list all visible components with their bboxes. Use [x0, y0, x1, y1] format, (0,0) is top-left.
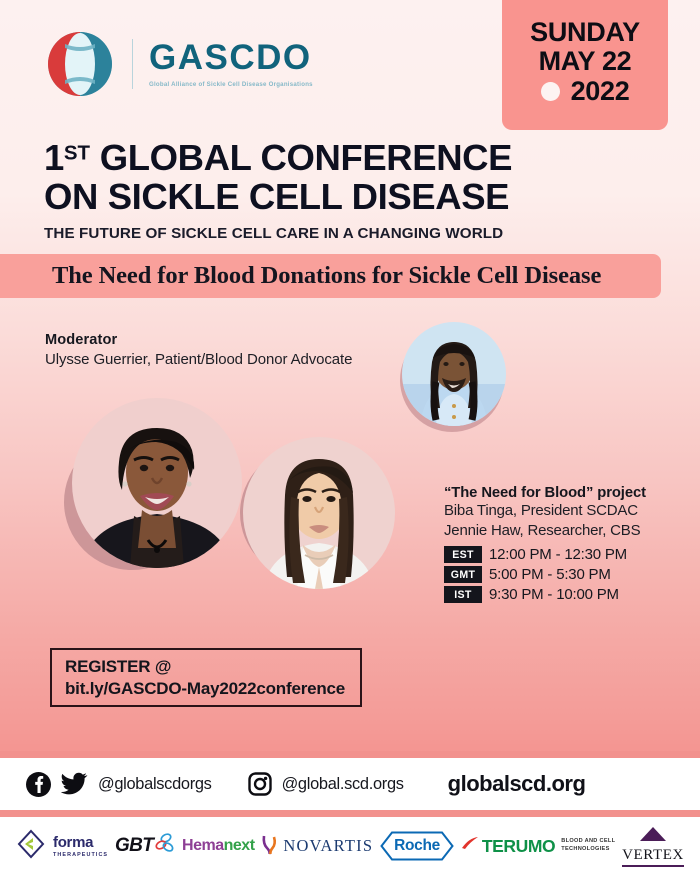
terumo-swoosh-icon: [461, 836, 479, 857]
gascdo-logo: GASCDO Global Alliance of Sickle Cell Di…: [46, 30, 313, 98]
sponsor-strip: forma THERAPEUTICS GBT Hemanext: [0, 817, 700, 875]
facebook-icon[interactable]: [26, 772, 51, 797]
register-box[interactable]: REGISTER @ bit.ly/GASCDO-May2022conferen…: [50, 648, 362, 707]
poster-header: GASCDO Global Alliance of Sickle Cell Di…: [0, 0, 700, 135]
sponsor-name: forma: [53, 835, 108, 850]
sponsor-tagline: THERAPEUTICS: [53, 852, 108, 858]
speaker-photo-biba-tinga: [72, 398, 242, 568]
white-circle-bullet-icon: [541, 82, 560, 101]
sponsor-name: Roche: [394, 837, 440, 855]
conference-poster: GASCDO Global Alliance of Sickle Cell Di…: [0, 0, 700, 875]
date-badge: SUNDAY MAY 22 2022: [502, 0, 668, 130]
vertex-triangle-icon: [639, 826, 667, 847]
social-bar: @globalscdorgs @global.scd.orgs globalsc…: [0, 758, 700, 810]
register-label: REGISTER @: [65, 656, 360, 677]
logo-divider: [132, 39, 133, 89]
sponsor-tagline-line2: TECHNOLOGIES: [561, 846, 615, 854]
title-line2: ON SICKLE CELL DISEASE: [44, 176, 509, 217]
sponsor-roche: Roche: [380, 831, 454, 861]
social-handle-main[interactable]: @globalscdorgs: [98, 775, 212, 794]
timezone-row: IST 9:30 PM - 10:00 PM: [444, 586, 646, 603]
date-year: 2022: [571, 77, 630, 106]
moderator-role-label: Moderator: [45, 332, 352, 348]
title-ordinal-suffix: ST: [64, 141, 90, 164]
logo-tagline: Global Alliance of Sickle Cell Disease O…: [149, 81, 313, 88]
speaker-name: Biba Tinga, President SCDAC: [444, 501, 646, 521]
speakers-block: “The Need for Blood” project Biba Tinga,…: [444, 485, 646, 606]
title-line1-rest: GLOBAL CONFERENCE: [90, 137, 512, 178]
date-weekday: SUNDAY: [530, 18, 640, 47]
sponsor-name-part-b: next: [224, 837, 255, 854]
instagram-icon[interactable]: [248, 772, 272, 796]
sponsor-name: VERTEX: [622, 847, 684, 867]
sponsor-novartis: NOVARTIS: [261, 833, 373, 860]
sponsor-terumo: TERUMO BLOOD AND CELL TECHNOLOGIES: [461, 836, 615, 857]
novartis-flame-icon: [261, 833, 278, 860]
timezone-time: 12:00 PM - 12:30 PM: [489, 546, 627, 563]
timezone-time: 9:30 PM - 10:00 PM: [489, 586, 619, 603]
timezone-time: 5:00 PM - 5:30 PM: [489, 566, 611, 583]
timezone-badge: IST: [444, 586, 482, 603]
social-rule-top: [0, 751, 700, 758]
timezone-row: EST 12:00 PM - 12:30 PM: [444, 546, 646, 563]
page-title: 1ST GLOBAL CONFERENCE ON SICKLE CELL DIS…: [44, 138, 512, 217]
speaker-photo-jennie-haw: [243, 437, 395, 589]
title-block: 1ST GLOBAL CONFERENCE ON SICKLE CELL DIS…: [44, 138, 512, 242]
speaker-name: Jennie Haw, Researcher, CBS: [444, 521, 646, 541]
timezone-badge: GMT: [444, 566, 482, 583]
sponsor-forma-therapeutics: forma THERAPEUTICS: [16, 829, 108, 864]
logo-wordmark: GASCDO: [149, 40, 313, 75]
sponsor-name-part-a: Hema: [182, 837, 224, 854]
social-handle-instagram[interactable]: @global.scd.orgs: [282, 775, 404, 794]
sponsor-name: NOVARTIS: [283, 836, 373, 856]
register-link[interactable]: bit.ly/GASCDO-May2022conference: [65, 678, 360, 699]
moderator-block: Moderator Ulysse Guerrier, Patient/Blood…: [45, 332, 352, 368]
sponsor-gbt: GBT: [115, 833, 175, 860]
date-month-day: MAY 22: [539, 47, 632, 76]
website-url[interactable]: globalscd.org: [448, 771, 586, 797]
moderator-photo: [402, 322, 506, 426]
session-title-banner: The Need for Blood Donations for Sickle …: [0, 254, 661, 298]
timezone-row: GMT 5:00 PM - 5:30 PM: [444, 566, 646, 583]
forma-logo-icon: [16, 829, 46, 864]
page-subtitle: THE FUTURE OF SICKLE CELL CARE IN A CHAN…: [44, 225, 512, 242]
gascdo-globe-icon: [46, 30, 114, 98]
twitter-icon[interactable]: [61, 772, 88, 797]
title-ordinal: 1: [44, 137, 64, 178]
sponsor-name: GBT: [115, 835, 153, 857]
sponsor-vertex: VERTEX: [622, 826, 684, 867]
moderator-name: Ulysse Guerrier, Patient/Blood Donor Adv…: [45, 351, 352, 368]
sponsor-hemanext: Hemanext: [182, 837, 254, 855]
gbt-cells-icon: [153, 833, 175, 860]
session-title: The Need for Blood Donations for Sickle …: [52, 262, 601, 290]
project-title: “The Need for Blood” project: [444, 485, 646, 501]
social-rule-bottom: [0, 810, 700, 817]
sponsor-name: TERUMO: [482, 836, 555, 857]
timezone-list: EST 12:00 PM - 12:30 PM GMT 5:00 PM - 5:…: [444, 546, 646, 603]
sponsor-tagline-line1: BLOOD AND CELL: [561, 838, 615, 846]
timezone-badge: EST: [444, 546, 482, 563]
